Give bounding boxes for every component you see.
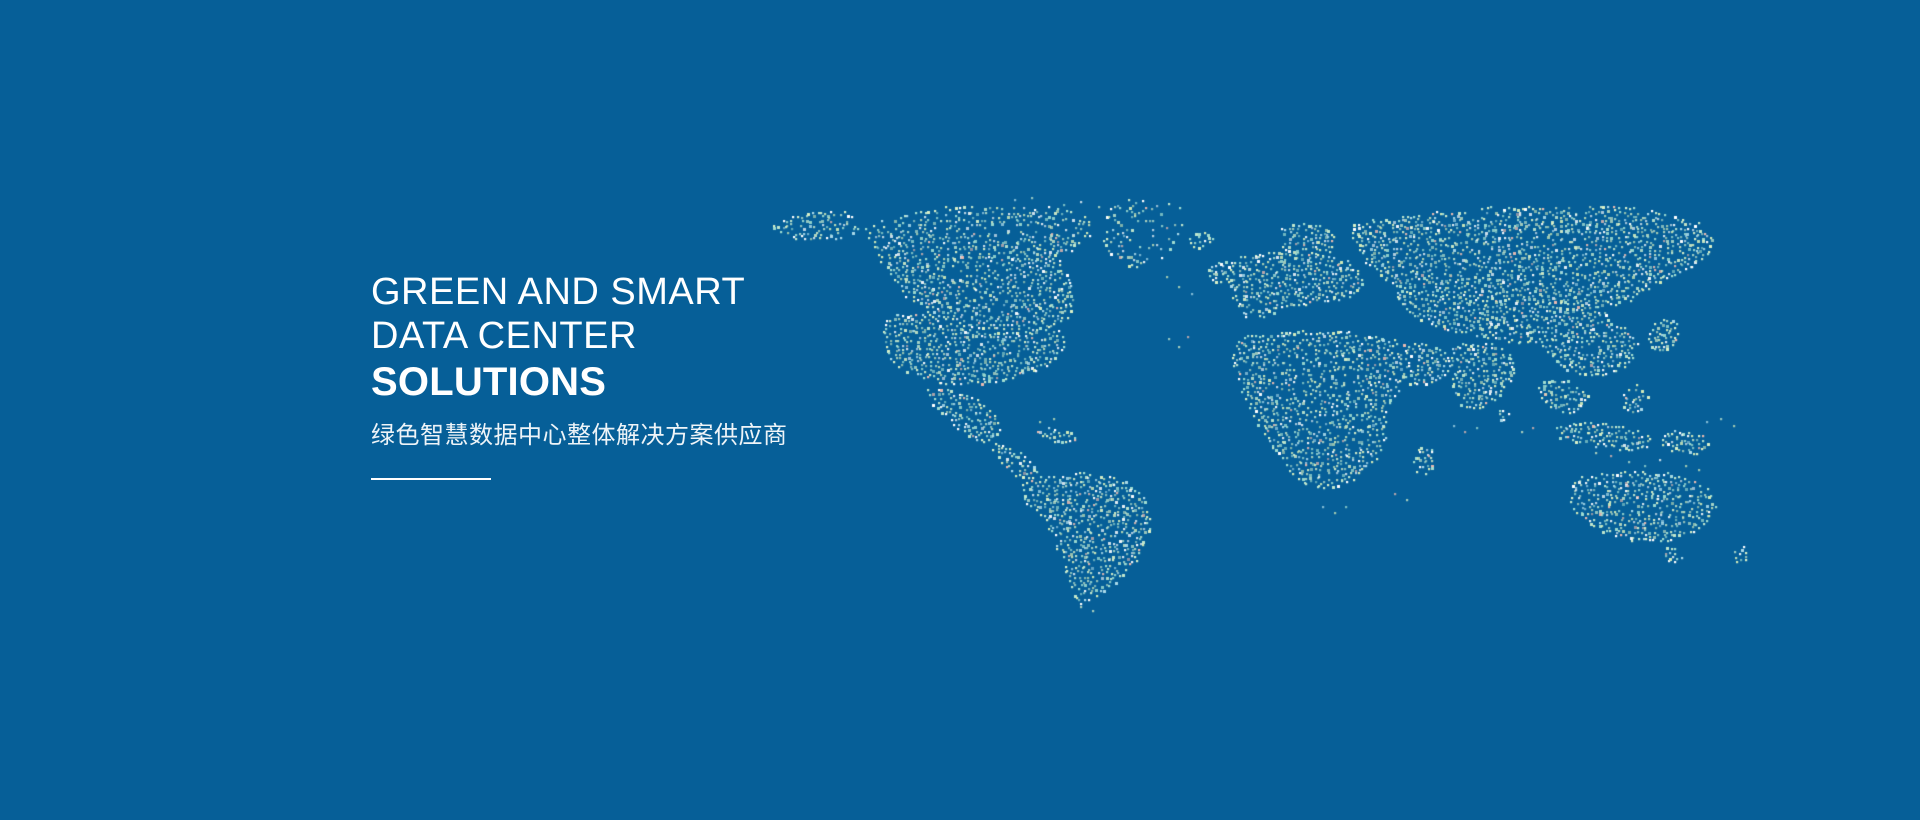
hero-divider-rule — [371, 478, 491, 480]
headline-line-3: SOLUTIONS — [371, 358, 931, 406]
hero-subtitle: 绿色智慧数据中心整体解决方案供应商 — [371, 420, 931, 452]
hero-text-block: GREEN AND SMART DATA CENTER SOLUTIONS 绿色… — [371, 270, 931, 480]
headline-line-2: DATA CENTER — [371, 314, 931, 358]
headline-line-1: GREEN AND SMART — [371, 270, 931, 314]
dotted-world-map-canvas — [0, 0, 1920, 820]
world-map-graphic — [0, 0, 1920, 820]
hero-banner: GREEN AND SMART DATA CENTER SOLUTIONS 绿色… — [0, 0, 1920, 820]
